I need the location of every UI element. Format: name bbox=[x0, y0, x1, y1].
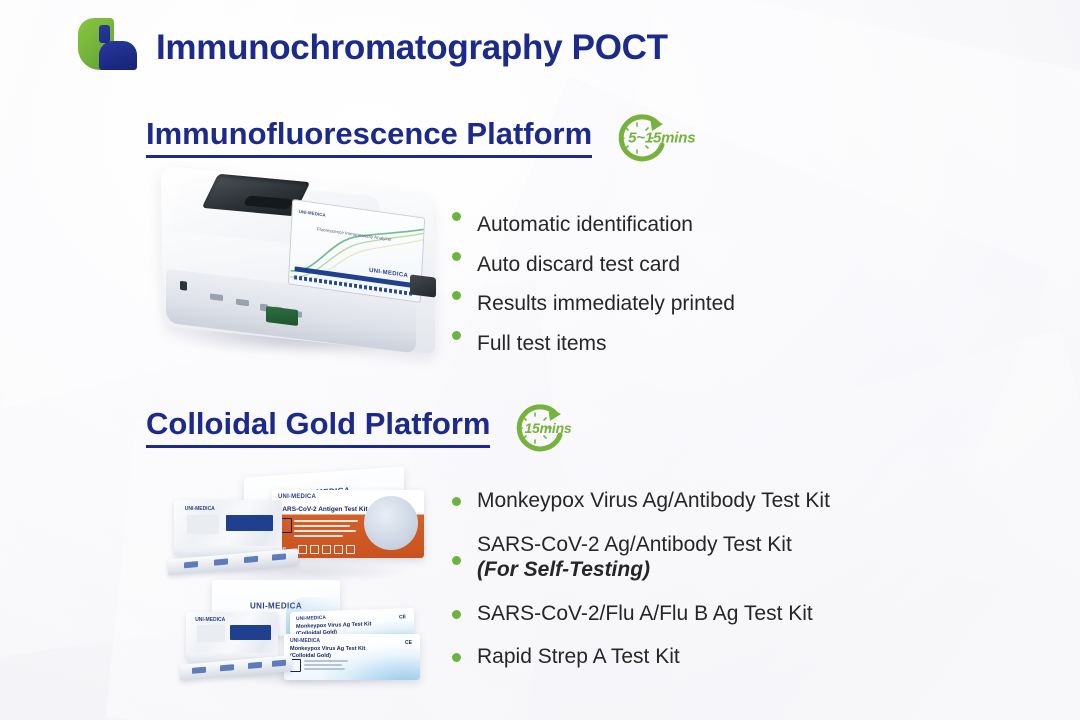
kit-title: Monkeypox Virus Ag Test Kit(Colloidal Go… bbox=[290, 646, 365, 660]
list-item: Full test items bbox=[452, 331, 735, 357]
list-item: Monkeypox Virus Ag/Antibody Test Kit bbox=[452, 488, 830, 514]
bullet-dot-icon bbox=[452, 556, 461, 565]
bullet-dot-icon bbox=[452, 212, 461, 221]
bullet-dot-icon bbox=[452, 653, 461, 662]
bullet-dot-icon bbox=[452, 610, 461, 619]
list-item: Rapid Strep A Test Kit bbox=[452, 644, 830, 670]
ce-mark: CE bbox=[405, 640, 412, 646]
section-title: Colloidal Gold Platform bbox=[146, 408, 490, 448]
kit-brand: UNI-MEDICA bbox=[290, 638, 320, 644]
section-title: Immunofluorescence Platform bbox=[146, 118, 592, 158]
list-item: SARS-CoV-2 Ag/Antibody Test Kit (For Sel… bbox=[452, 532, 830, 583]
list-item: Automatic identification bbox=[452, 212, 735, 238]
duration-badge-label: 15mins bbox=[524, 420, 571, 436]
list-item: SARS-CoV-2/Flu A/Flu B Ag Test Kit bbox=[452, 601, 830, 627]
test-pouch: UNI-MEDICA bbox=[186, 612, 278, 662]
section-heading-immunofluorescence: Immunofluorescence Platform 5~15mins bbox=[146, 112, 684, 164]
list-item-subtext: (For Self-Testing) bbox=[477, 557, 792, 583]
duration-badge-colloidal-gold: 15mins bbox=[504, 402, 582, 454]
list-item: Auto discard test card bbox=[452, 252, 735, 278]
poct-slide: Immunochromatography POCT Immunofluoresc… bbox=[0, 0, 1080, 720]
list-item: Results immediately printed bbox=[452, 291, 735, 317]
fluorescence-analyzer-image: UNI-MEDICA Fluorescence Immunoassay Anal… bbox=[150, 168, 450, 373]
list-item-text: SARS-CoV-2 Ag/Antibody Test Kit (For Sel… bbox=[477, 532, 792, 583]
page-header: Immunochromatography POCT bbox=[78, 18, 668, 76]
bullet-dot-icon bbox=[452, 291, 461, 300]
page-title: Immunochromatography POCT bbox=[156, 30, 668, 65]
sars-cov-2-kit-image: UNI-MEDICA UNI-MEDICA SARS-CoV-2 Antigen… bbox=[168, 468, 438, 583]
section-heading-colloidal-gold: Colloidal Gold Platform 15mins bbox=[146, 402, 582, 454]
duration-badge-label: 5~15mins bbox=[628, 130, 695, 147]
monkeypox-kit-image: UNI-MEDICA UNI-MEDICA Monkeypox Virus Ag… bbox=[184, 578, 424, 688]
bullet-dot-icon bbox=[452, 497, 461, 506]
product-list-colloidal-gold: Monkeypox Virus Ag/Antibody Test Kit SAR… bbox=[452, 488, 830, 670]
kit-brand: UNI-MEDICA bbox=[278, 494, 316, 500]
feature-list-immunofluorescence: Automatic identification Auto discard te… bbox=[452, 212, 735, 356]
kit-box-monkeypox-front: UNI-MEDICA Monkeypox Virus Ag Test Kit(C… bbox=[284, 634, 420, 680]
kit-title: SARS-CoV-2 Antigen Test Kit bbox=[278, 506, 368, 513]
duration-badge-immunofluorescence: 5~15mins bbox=[606, 112, 684, 164]
test-pouch: UNI-MEDICA bbox=[174, 500, 282, 556]
bullet-dot-icon bbox=[452, 331, 461, 340]
uni-medica-logo-icon bbox=[78, 18, 144, 76]
bullet-dot-icon bbox=[452, 252, 461, 261]
